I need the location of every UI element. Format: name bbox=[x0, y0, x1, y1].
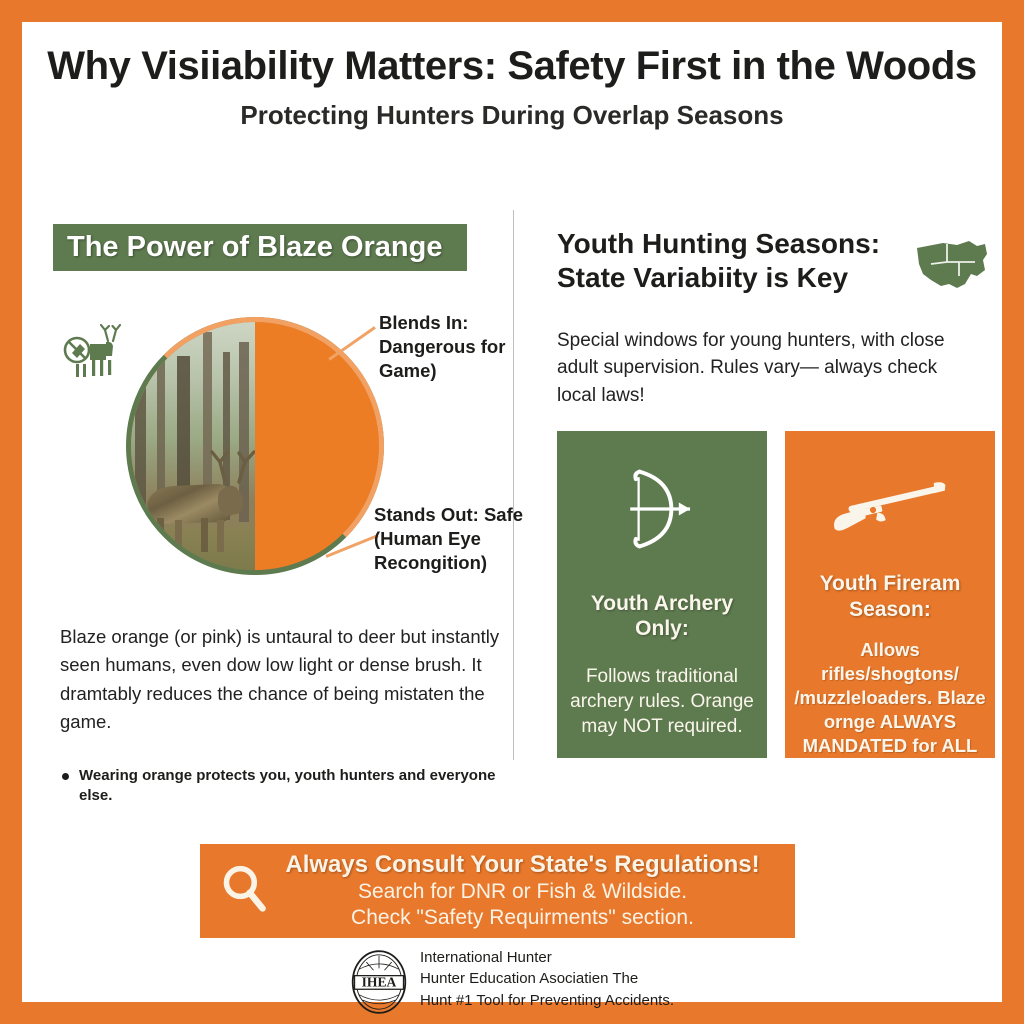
banner-headline: Always Consult Your State's Regulations! bbox=[276, 851, 769, 879]
ihea-logo: IHEA bbox=[350, 949, 408, 1020]
callout-blends-in: Blends In: Dangerous for Game) bbox=[379, 311, 519, 383]
camouflaged-deer bbox=[139, 442, 255, 560]
banner-line-2: Search for DNR or Fish & Wildside. bbox=[276, 879, 769, 905]
section-heading-label: The Power of Blaze Orange bbox=[53, 231, 442, 264]
bullet-dot-icon bbox=[62, 773, 69, 780]
rifle-icon bbox=[822, 459, 958, 555]
banner-line-3: Check "Safety Requirments" section. bbox=[276, 905, 769, 931]
blaze-orange-comparison-diagram bbox=[126, 317, 384, 575]
footer-attribution: IHEA International Hunter Hunter Educati… bbox=[22, 947, 1002, 1020]
blaze-orange-solid-half bbox=[255, 322, 379, 570]
no-deer-visibility-icon bbox=[56, 322, 128, 384]
card-body-firearm: Allows rifles/shogtons/ /muzzleloaders. … bbox=[785, 638, 995, 758]
footer-line-1: International Hunter bbox=[420, 947, 674, 968]
left-bullet-item: Wearing orange protects you, youth hunte… bbox=[62, 766, 532, 805]
search-icon bbox=[220, 862, 270, 921]
right-heading: Youth Hunting Seasons: State Variabiity … bbox=[557, 227, 887, 295]
left-body-text: Blaze orange (or pink) is untaural to de… bbox=[60, 623, 525, 736]
left-bullet-text: Wearing orange protects you, youth hunte… bbox=[79, 766, 532, 805]
section-heading-blaze-orange: The Power of Blaze Orange bbox=[53, 224, 467, 271]
banner-text-block: Always Consult Your State's Regulations!… bbox=[276, 851, 795, 932]
card-title-firearm: Youth Fireram Season: bbox=[785, 571, 995, 621]
regulations-banner[interactable]: Always Consult Your State's Regulations!… bbox=[200, 844, 795, 938]
card-title-archery: Youth Archery Only: bbox=[557, 591, 767, 641]
footer-text-block: International Hunter Hunter Education As… bbox=[420, 947, 674, 1011]
us-states-map-icon bbox=[913, 236, 991, 298]
split-circle bbox=[126, 317, 384, 575]
infographic-canvas: Why Visiiability Matters: Safety First i… bbox=[22, 22, 1002, 1002]
card-youth-firearm[interactable]: Youth Fireram Season: Allows rifles/shog… bbox=[785, 431, 995, 758]
footer-line-3: Hunt #1 Tool for Preventing Accidents. bbox=[420, 990, 674, 1011]
card-body-archery: Follows traditional archery rules. Orang… bbox=[557, 665, 767, 739]
footer-line-2: Hunter Education Asociatien The bbox=[420, 968, 674, 989]
bow-and-arrow-icon bbox=[619, 457, 705, 561]
ihea-logo-text: IHEA bbox=[362, 975, 397, 990]
card-youth-archery[interactable]: Youth Archery Only: Follows traditional … bbox=[557, 431, 767, 758]
callout-stands-out: Stands Out: Safe (Human Eye Recongition) bbox=[374, 503, 524, 575]
right-body-text: Special windows for young hunters, with … bbox=[557, 327, 957, 409]
season-cards: Youth Archery Only: Follows traditional … bbox=[557, 431, 993, 758]
forest-camouflage-photo-half bbox=[131, 322, 255, 570]
